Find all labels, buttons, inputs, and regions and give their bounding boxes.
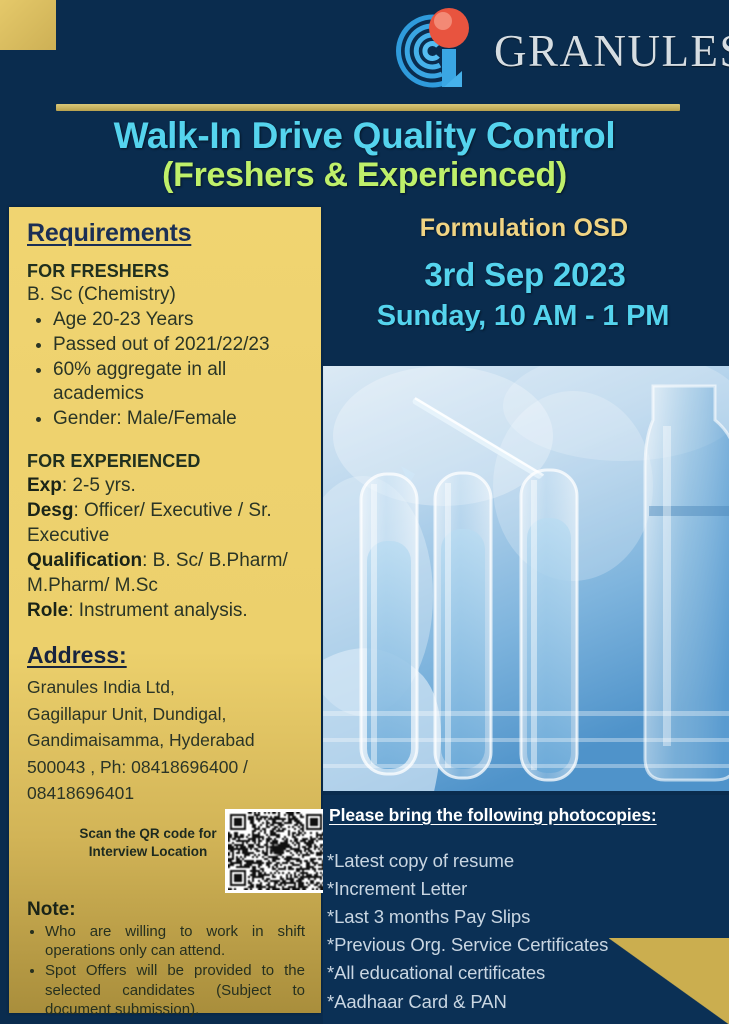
experienced-heading: FOR EXPERIENCED	[27, 451, 307, 472]
experienced-field-exp: Exp: 2-5 yrs.	[27, 473, 307, 498]
gold-corner-top-left	[0, 0, 56, 50]
note-title: Note:	[27, 899, 307, 921]
list-item: Who are willing to work in shift operati…	[45, 922, 305, 960]
spacer	[25, 432, 307, 451]
list-item: Spot Offers will be provided to the sele…	[45, 961, 305, 1019]
list-item: *Last 3 months Pay Slips	[327, 903, 729, 931]
note-list: Who are willing to work in shift operati…	[25, 922, 307, 1019]
experienced-field-desg: Desg: Officer/ Executive / Sr. Executive	[27, 498, 307, 548]
field-label: Qualification	[27, 550, 142, 571]
qr-caption-line-1: Scan the QR code for	[73, 825, 223, 843]
recruitment-poster: GRANULES Walk-In Drive Quality Control (…	[0, 0, 729, 1024]
list-item: Age 20-23 Years	[53, 308, 307, 333]
list-item: *Latest copy of resume	[327, 847, 729, 875]
granules-spiral-logo-icon	[392, 5, 488, 97]
brand-name: GRANULES	[494, 29, 729, 74]
field-value: 2-5 yrs.	[72, 475, 135, 496]
event-date: 3rd Sep 2023	[329, 256, 721, 294]
freshers-heading: FOR FRESHERS	[27, 261, 307, 282]
experienced-field-qualification: Qualification: B. Sc/ B.Pharm/ M.Pharm/ …	[27, 548, 307, 598]
address-title: Address:	[27, 642, 307, 669]
field-label: Role	[27, 600, 68, 621]
address-line: Gandimaisamma, Hyderabad	[27, 727, 307, 754]
requirements-panel: Requirements FOR FRESHERS B. Sc (Chemist…	[9, 207, 321, 1013]
requirements-title: Requirements	[27, 219, 307, 248]
event-time: Sunday, 10 AM - 1 PM	[323, 300, 723, 333]
list-item: *Increment Letter	[327, 875, 729, 903]
list-item: Passed out of 2021/22/23	[53, 333, 307, 358]
spacer	[25, 623, 307, 642]
department-label: Formulation OSD	[329, 214, 719, 243]
list-item: Gender: Male/Female	[53, 407, 307, 432]
list-item: 60% aggregate in all academics	[53, 358, 307, 407]
laboratory-photo	[323, 366, 729, 791]
brand-logo: GRANULES	[392, 4, 722, 98]
qr-caption-line-2: Interview Location	[73, 843, 223, 861]
field-label: Desg	[27, 500, 73, 521]
freshers-bullet-list: Age 20-23 Years Passed out of 2021/22/23…	[29, 308, 307, 431]
qr-caption: Scan the QR code for Interview Location	[73, 825, 223, 861]
headline-line-1: Walk-In Drive Quality Control	[0, 116, 729, 156]
field-label: Exp	[27, 475, 62, 496]
experienced-field-role: Role: Instrument analysis.	[27, 598, 307, 623]
qr-section: Scan the QR code for Interview Location	[25, 809, 307, 895]
gold-corner-bottom-right	[609, 938, 729, 1024]
address-line: Gagillapur Unit, Dundigal,	[27, 701, 307, 728]
freshers-qualification: B. Sc (Chemistry)	[27, 283, 307, 307]
qr-code-icon[interactable]	[225, 809, 329, 893]
address-line: 500043 , Ph: 08418696400 /	[27, 754, 307, 781]
address-line: 08418696401	[27, 780, 307, 807]
headline-line-2: (Freshers & Experienced)	[0, 156, 729, 194]
gold-divider-rule	[56, 104, 680, 111]
page-title: Walk-In Drive Quality Control (Freshers …	[0, 116, 729, 194]
field-value: Instrument analysis.	[79, 600, 248, 621]
photocopies-title: Please bring the following photocopies:	[329, 805, 729, 826]
address-line: Granules India Ltd,	[27, 674, 307, 701]
